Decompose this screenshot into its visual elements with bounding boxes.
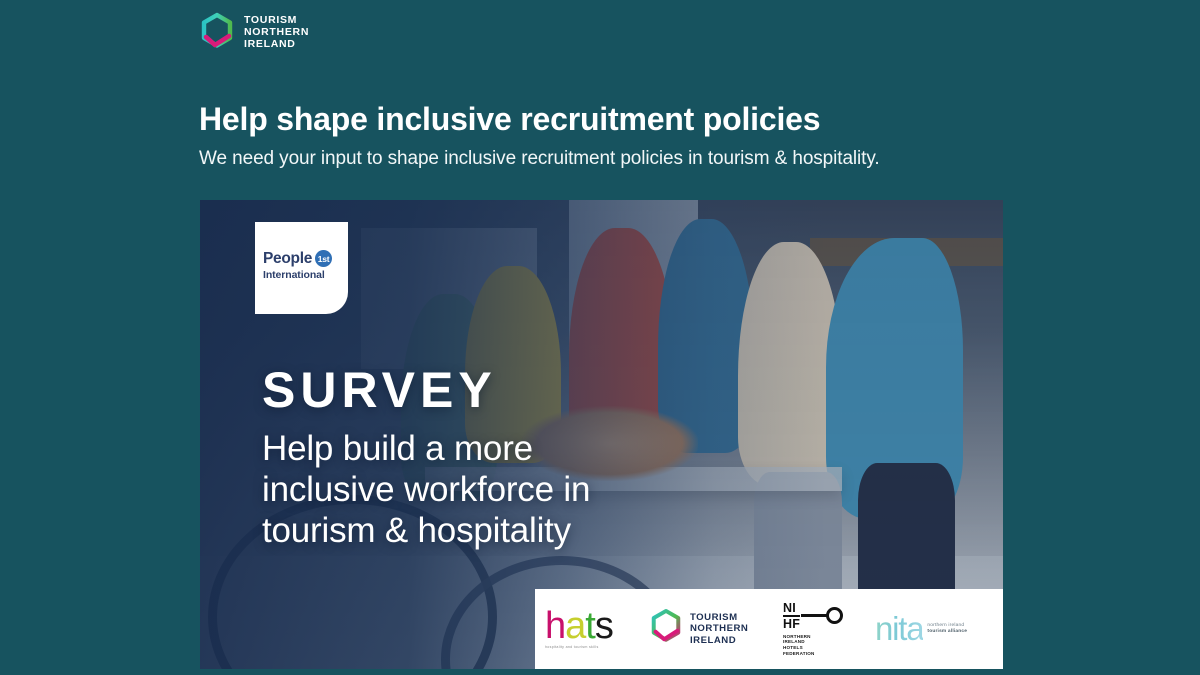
site-brand[interactable]: TOURISM NORTHERN IRELAND <box>199 12 309 52</box>
page-title: Help shape inclusive recruitment policie… <box>199 101 820 138</box>
nihf-tag-4: FEDERATION <box>783 651 815 657</box>
people-1st-chip: 1st <box>315 250 332 267</box>
hats-letter-t: t <box>585 605 595 647</box>
hats-letter-a: a <box>565 605 585 647</box>
nihf-tagline: NORTHERN IRELAND HOTELS FEDERATION <box>783 634 815 656</box>
brand-wordmark: TOURISM NORTHERN IRELAND <box>244 14 309 51</box>
survey-copy: Help build a more inclusive workforce in… <box>262 428 590 551</box>
survey-eyebrow: SURVEY <box>262 365 497 415</box>
nita-wordmark: nita <box>875 614 923 644</box>
tni-line-1: TOURISM <box>690 612 748 623</box>
tourism-ni-hexagon-icon <box>649 608 683 651</box>
survey-copy-line-3: tourism & hospitality <box>262 510 590 551</box>
nita-tag-2: tourism alliance <box>927 629 967 635</box>
tni-line-3: IRELAND <box>690 635 748 646</box>
partner-logo-nita[interactable]: nita northern ireland tourism alliance <box>875 589 995 669</box>
brand-line-3: IRELAND <box>244 38 309 50</box>
brand-line-1: TOURISM <box>244 14 309 26</box>
page-subtitle: We need your input to shape inclusive re… <box>199 148 880 170</box>
partner-logo-tourism-ni[interactable]: TOURISM NORTHERN IRELAND <box>649 589 783 669</box>
hats-letter-s: s <box>595 605 613 647</box>
nihf-initials-top: NI <box>783 601 796 615</box>
brand-line-2: NORTHERN <box>244 26 309 38</box>
tni-line-2: NORTHERN <box>690 623 748 634</box>
hats-tagline: hospitality and tourism skills <box>545 645 599 649</box>
partner-logo-hats[interactable]: hats hospitality and tourism skills <box>545 589 649 669</box>
people-1st-word: People <box>263 250 312 268</box>
hats-wordmark: hats <box>545 609 613 643</box>
promo-page: TOURISM NORTHERN IRELAND Help shape incl… <box>0 0 1200 675</box>
partner-logo-nihf[interactable]: NI HF NORTHERN IRELAND HOTELS FEDERATION <box>783 589 875 669</box>
nihf-key-icon: NI HF <box>783 602 843 630</box>
survey-copy-line-1: Help build a more <box>262 428 590 469</box>
hats-letter-h: h <box>545 605 565 647</box>
people-1st-international-logo: People 1st International <box>255 222 348 314</box>
survey-copy-line-2: inclusive workforce in <box>262 469 590 510</box>
partner-logo-bar: hats hospitality and tourism skills <box>535 589 1003 669</box>
nihf-initials-bottom: HF <box>783 617 800 631</box>
tourism-ni-wordmark: TOURISM NORTHERN IRELAND <box>690 612 748 646</box>
nita-tagline: northern ireland tourism alliance <box>927 623 967 635</box>
tourism-ni-hexagon-icon <box>199 12 235 52</box>
promo-image-card[interactable]: People 1st International SURVEY Help bui… <box>200 200 1003 669</box>
people-1st-subword: International <box>263 269 348 281</box>
